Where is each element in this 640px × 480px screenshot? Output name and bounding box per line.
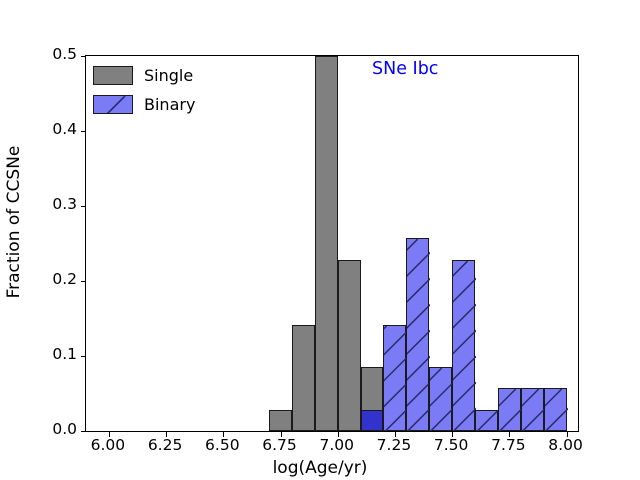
bar-binary xyxy=(406,238,429,431)
bar-single xyxy=(315,56,338,431)
x-axis-tick-label: 6.75 xyxy=(262,438,297,454)
y-axis-label: Fraction of CCSNe xyxy=(4,2,24,442)
y-axis-tick-label: 0.5 xyxy=(52,47,77,63)
y-axis-tick-label: 0.4 xyxy=(52,122,77,138)
y-axis-tick xyxy=(81,281,87,282)
legend-label-binary: Binary xyxy=(144,95,195,114)
bar-binary xyxy=(452,260,475,431)
bar-binary xyxy=(498,388,521,431)
y-axis-tick-label: 0.1 xyxy=(52,347,77,363)
bar-single xyxy=(269,410,292,431)
x-axis-tick-label: 7.50 xyxy=(434,438,469,454)
y-axis-tick xyxy=(81,206,87,207)
chart-legend: Single Binary xyxy=(93,64,195,122)
legend-label-single: Single xyxy=(144,66,193,85)
y-axis-tick xyxy=(81,431,87,432)
x-axis-tick-label: 8.00 xyxy=(548,438,583,454)
y-axis-tick xyxy=(81,56,87,57)
chart-annotation-sne-ibc: SNe Ibc xyxy=(372,59,438,79)
y-axis-tick xyxy=(81,356,87,357)
legend-item-binary: Binary xyxy=(93,93,195,115)
x-axis-tick-label: 6.00 xyxy=(91,438,126,454)
bar-hatch-icon xyxy=(384,326,407,432)
bar-hatch-icon xyxy=(522,389,545,431)
legend-item-single: Single xyxy=(93,64,195,86)
bar-binary xyxy=(383,325,406,432)
x-axis-tick-label: 7.25 xyxy=(377,438,412,454)
bar-binary xyxy=(475,410,498,431)
bar-binary xyxy=(521,388,544,431)
bar-hatch-icon xyxy=(407,239,430,431)
legend-swatch-single-icon xyxy=(93,66,133,85)
x-axis-tick-label: 7.75 xyxy=(491,438,526,454)
bar-single xyxy=(338,260,361,431)
y-axis-tick-label: 0.2 xyxy=(52,272,77,288)
legend-swatch-binary-icon xyxy=(93,95,133,114)
bar-hatch-icon xyxy=(499,389,522,431)
y-axis-tick-label: 0.3 xyxy=(52,197,77,213)
bar-hatch-icon xyxy=(476,411,499,431)
bar-hatch-icon xyxy=(545,389,568,431)
legend-hatch-icon xyxy=(94,96,133,114)
bar-hatch-icon xyxy=(430,368,453,431)
bar-binary xyxy=(544,388,567,431)
bar-hatch-icon xyxy=(453,261,476,431)
figure-canvas: 0.00.10.20.30.40.56.006.256.506.757.007.… xyxy=(0,0,640,480)
x-axis-tick-label: 6.50 xyxy=(205,438,240,454)
bar-overlap xyxy=(361,410,384,431)
bar-single xyxy=(292,325,315,432)
y-axis-tick xyxy=(81,131,87,132)
y-axis-tick-label: 0.0 xyxy=(52,422,77,438)
x-axis-tick-label: 7.00 xyxy=(319,438,354,454)
x-axis-label: log(Age/yr) xyxy=(0,458,640,478)
bar-binary xyxy=(429,367,452,431)
x-axis-tick-label: 6.25 xyxy=(148,438,183,454)
